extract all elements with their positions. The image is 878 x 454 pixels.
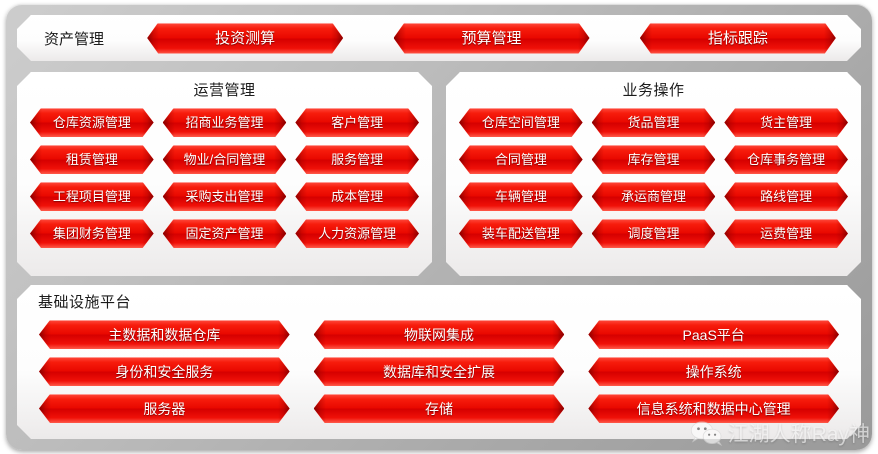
biz-item-label: 调度管理 xyxy=(627,227,679,240)
op-item-label: 客户管理 xyxy=(331,116,383,129)
biz-item-label: 库存管理 xyxy=(627,153,679,166)
infra-item-identity-security[interactable]: 身份和安全服务 xyxy=(39,357,290,386)
infra-item-label: 物联网集成 xyxy=(404,328,474,342)
biz-item-freight[interactable]: 运费管理 xyxy=(724,219,848,248)
header-bar: 资产管理 投资测算 预算管理 指标跟踪 xyxy=(17,15,861,61)
infra-item-label: 信息系统和数据中心管理 xyxy=(637,402,791,416)
op-item-human-resources[interactable]: 人力资源管理 xyxy=(295,219,419,248)
panel-infrastructure-grid: 主数据和数据仓库 物联网集成 PaaS平台 身份和安全服务 数据库和安全扩展 操… xyxy=(17,310,861,423)
header-button-kpi-label: 指标跟踪 xyxy=(708,31,768,46)
infra-item-operating-system[interactable]: 操作系统 xyxy=(588,357,839,386)
biz-item-label: 仓库空间管理 xyxy=(482,116,560,129)
panel-business-grid: 仓库空间管理 货品管理 货主管理 合同管理 库存管理 仓库事务管理 车辆管理 承… xyxy=(446,98,861,248)
infra-item-label: 操作系统 xyxy=(686,365,742,379)
infra-item-label: 主数据和数据仓库 xyxy=(108,328,220,342)
biz-item-label: 装车配送管理 xyxy=(482,227,560,240)
biz-item-label: 车辆管理 xyxy=(495,190,547,203)
op-item-label: 租赁管理 xyxy=(66,153,118,166)
header-button-kpi[interactable]: 指标跟踪 xyxy=(640,23,836,54)
diagram-frame: 资产管理 投资测算 预算管理 指标跟踪 运营管理 仓库资源管理 招商业务管理 客… xyxy=(6,4,872,450)
biz-item-inventory[interactable]: 库存管理 xyxy=(592,145,716,174)
op-item-fixed-assets[interactable]: 固定资产管理 xyxy=(163,219,287,248)
infra-item-server[interactable]: 服务器 xyxy=(39,394,290,423)
op-item-group-finance[interactable]: 集团财务管理 xyxy=(30,219,154,248)
biz-item-loading-delivery[interactable]: 装车配送管理 xyxy=(459,219,583,248)
panel-operations-grid: 仓库资源管理 招商业务管理 客户管理 租赁管理 物业/合同管理 服务管理 工程项… xyxy=(17,98,432,248)
infra-item-label: PaaS平台 xyxy=(683,328,745,342)
header-label: 资产管理 xyxy=(44,28,104,49)
op-item-warehouse-resource[interactable]: 仓库资源管理 xyxy=(30,108,154,137)
panel-business-title: 业务操作 xyxy=(446,83,861,98)
biz-item-goods[interactable]: 货品管理 xyxy=(592,108,716,137)
infra-item-storage[interactable]: 存储 xyxy=(314,394,565,423)
infra-item-paas-platform[interactable]: PaaS平台 xyxy=(588,320,839,349)
op-item-label: 工程项目管理 xyxy=(53,190,131,203)
op-item-property-contract[interactable]: 物业/合同管理 xyxy=(163,145,287,174)
op-item-engineering-project[interactable]: 工程项目管理 xyxy=(30,182,154,211)
infra-item-database-security-extension[interactable]: 数据库和安全扩展 xyxy=(314,357,565,386)
biz-item-contract[interactable]: 合同管理 xyxy=(459,145,583,174)
infra-item-it-system-datacenter[interactable]: 信息系统和数据中心管理 xyxy=(588,394,839,423)
biz-item-carrier[interactable]: 承运商管理 xyxy=(592,182,716,211)
op-item-label: 物业/合同管理 xyxy=(184,153,266,166)
infra-item-label: 数据库和安全扩展 xyxy=(383,365,495,379)
op-item-leasing[interactable]: 租赁管理 xyxy=(30,145,154,174)
header-button-budget-label: 预算管理 xyxy=(461,31,521,46)
biz-item-label: 仓库事务管理 xyxy=(747,153,825,166)
op-item-investment-business[interactable]: 招商业务管理 xyxy=(163,108,287,137)
panel-infrastructure: 基础设施平台 主数据和数据仓库 物联网集成 PaaS平台 身份和安全服务 数据库… xyxy=(17,285,861,439)
biz-item-warehouse-affairs[interactable]: 仓库事务管理 xyxy=(724,145,848,174)
infra-item-master-data-warehouse[interactable]: 主数据和数据仓库 xyxy=(39,320,290,349)
panel-business-operations: 业务操作 仓库空间管理 货品管理 货主管理 合同管理 库存管理 仓库事务管理 车… xyxy=(446,72,861,276)
infra-item-label: 身份和安全服务 xyxy=(115,365,213,379)
biz-item-label: 运费管理 xyxy=(760,227,812,240)
biz-item-label: 货品管理 xyxy=(627,116,679,129)
biz-item-cargo-owner[interactable]: 货主管理 xyxy=(724,108,848,137)
infra-item-label: 服务器 xyxy=(143,402,185,416)
biz-item-dispatch[interactable]: 调度管理 xyxy=(592,219,716,248)
op-item-label: 采购支出管理 xyxy=(185,190,263,203)
op-item-label: 仓库资源管理 xyxy=(53,116,131,129)
op-item-label: 固定资产管理 xyxy=(185,227,263,240)
header-button-investment[interactable]: 投资测算 xyxy=(147,23,343,54)
panel-operations-title: 运营管理 xyxy=(17,83,432,98)
panel-operations: 运营管理 仓库资源管理 招商业务管理 客户管理 租赁管理 物业/合同管理 服务管… xyxy=(17,72,432,276)
biz-item-label: 路线管理 xyxy=(760,190,812,203)
header-button-investment-label: 投资测算 xyxy=(215,31,275,46)
op-item-label: 人力资源管理 xyxy=(318,227,396,240)
biz-item-label: 合同管理 xyxy=(495,153,547,166)
op-item-label: 服务管理 xyxy=(331,153,383,166)
infra-item-label: 存储 xyxy=(425,402,453,416)
header-button-budget[interactable]: 预算管理 xyxy=(394,23,590,54)
biz-item-warehouse-space[interactable]: 仓库空间管理 xyxy=(459,108,583,137)
op-item-procurement-spend[interactable]: 采购支出管理 xyxy=(163,182,287,211)
biz-item-label: 承运商管理 xyxy=(621,190,686,203)
biz-item-route[interactable]: 路线管理 xyxy=(724,182,848,211)
biz-item-vehicle[interactable]: 车辆管理 xyxy=(459,182,583,211)
biz-item-label: 货主管理 xyxy=(760,116,812,129)
op-item-customer[interactable]: 客户管理 xyxy=(295,108,419,137)
op-item-label: 招商业务管理 xyxy=(185,116,263,129)
op-item-cost[interactable]: 成本管理 xyxy=(295,182,419,211)
op-item-service[interactable]: 服务管理 xyxy=(295,145,419,174)
infra-item-iot-integration[interactable]: 物联网集成 xyxy=(314,320,565,349)
header-button-group: 投资测算 预算管理 指标跟踪 xyxy=(122,23,861,54)
op-item-label: 集团财务管理 xyxy=(53,227,131,240)
op-item-label: 成本管理 xyxy=(331,190,383,203)
panel-infrastructure-title: 基础设施平台 xyxy=(38,295,861,310)
